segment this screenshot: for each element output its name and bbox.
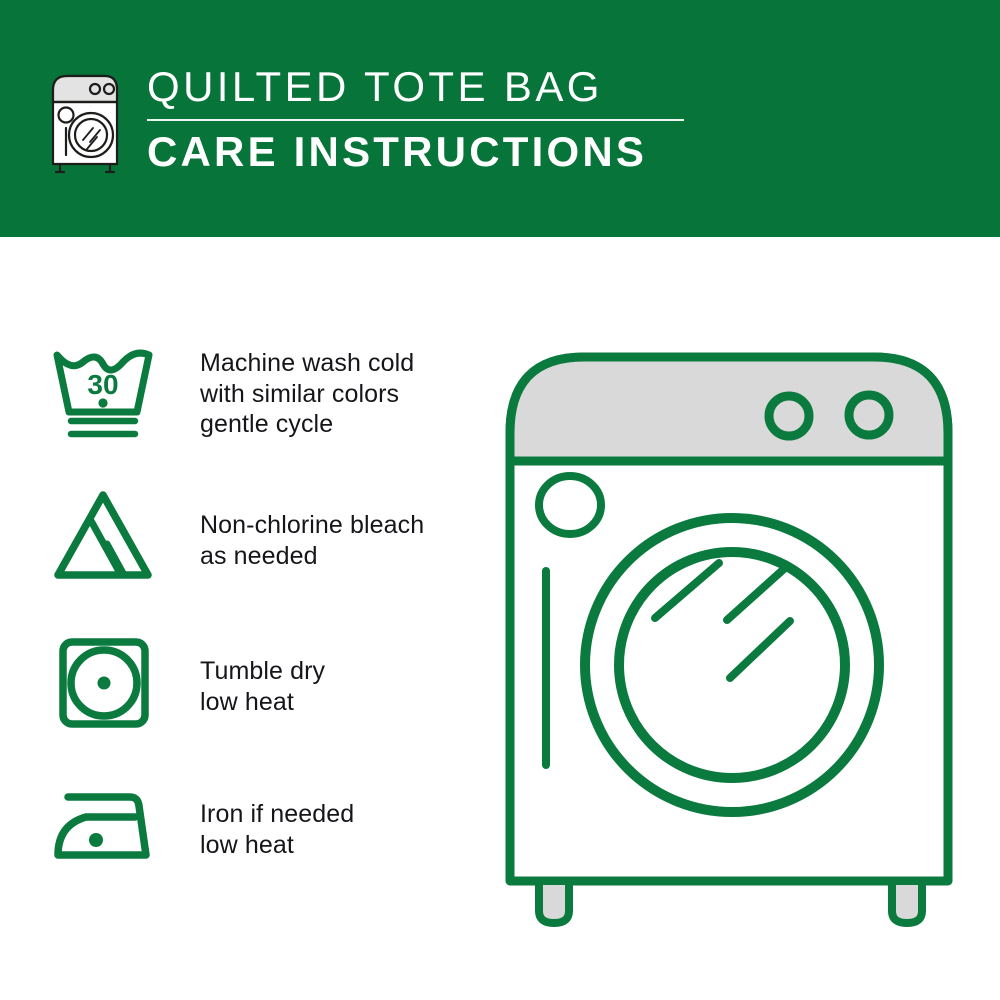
header-banner: QUILTED TOTE BAG CARE INSTRUCTIONS: [0, 0, 1000, 237]
content-area: 30 Machine wash cold with similar colors…: [0, 237, 1000, 1000]
care-text-line: low heat: [200, 687, 325, 718]
washer-control-panel: [510, 357, 948, 461]
care-text-line: Machine wash cold: [200, 348, 414, 379]
care-symbol-bleach: [50, 487, 170, 587]
care-text-wash: Machine wash cold with similar colors ge…: [200, 340, 414, 440]
wash-tub-30-gentle-icon: 30: [50, 342, 156, 442]
care-item-dry: Tumble dry low heat: [50, 634, 480, 744]
front-load-washing-machine-illustration: [492, 333, 966, 933]
page-title-line1: QUILTED TOTE BAG: [147, 64, 684, 110]
care-symbol-dry: [50, 634, 170, 734]
non-chlorine-bleach-triangle-icon: [50, 487, 156, 587]
header-content: QUILTED TOTE BAG CARE INSTRUCTIONS: [45, 62, 684, 176]
care-text-line: gentle cycle: [200, 409, 414, 440]
care-text-dry: Tumble dry low heat: [200, 634, 325, 717]
care-text-line: low heat: [200, 830, 354, 861]
care-text-bleach: Non-chlorine bleach as needed: [200, 487, 424, 571]
care-text-line: Non-chlorine bleach: [200, 510, 424, 541]
care-item-wash: 30 Machine wash cold with similar colors…: [50, 340, 480, 450]
care-symbol-wash: 30: [50, 342, 170, 442]
tumble-dry-low-heat-icon: [50, 634, 156, 734]
care-text-line: Tumble dry: [200, 656, 325, 687]
washer-leg-left: [539, 881, 569, 923]
care-instruction-list: 30 Machine wash cold with similar colors…: [50, 340, 480, 891]
page-title-line2: CARE INSTRUCTIONS: [147, 129, 684, 175]
care-text-line: with similar colors: [200, 379, 414, 410]
title-divider: [147, 119, 684, 121]
care-item-iron: Iron if needed low heat: [50, 781, 480, 891]
title-block: QUILTED TOTE BAG CARE INSTRUCTIONS: [147, 62, 684, 175]
care-text-iron: Iron if needed low heat: [200, 781, 354, 860]
wash-temperature-label: 30: [87, 369, 118, 400]
care-text-line: as needed: [200, 541, 424, 572]
care-item-bleach: Non-chlorine bleach as needed: [50, 487, 480, 597]
care-text-line: Iron if needed: [200, 799, 354, 830]
washing-machine-logo-icon: [45, 68, 125, 176]
washer-leg-right: [892, 881, 922, 923]
iron-low-heat-icon: [50, 787, 156, 867]
care-symbol-iron: [50, 787, 170, 867]
